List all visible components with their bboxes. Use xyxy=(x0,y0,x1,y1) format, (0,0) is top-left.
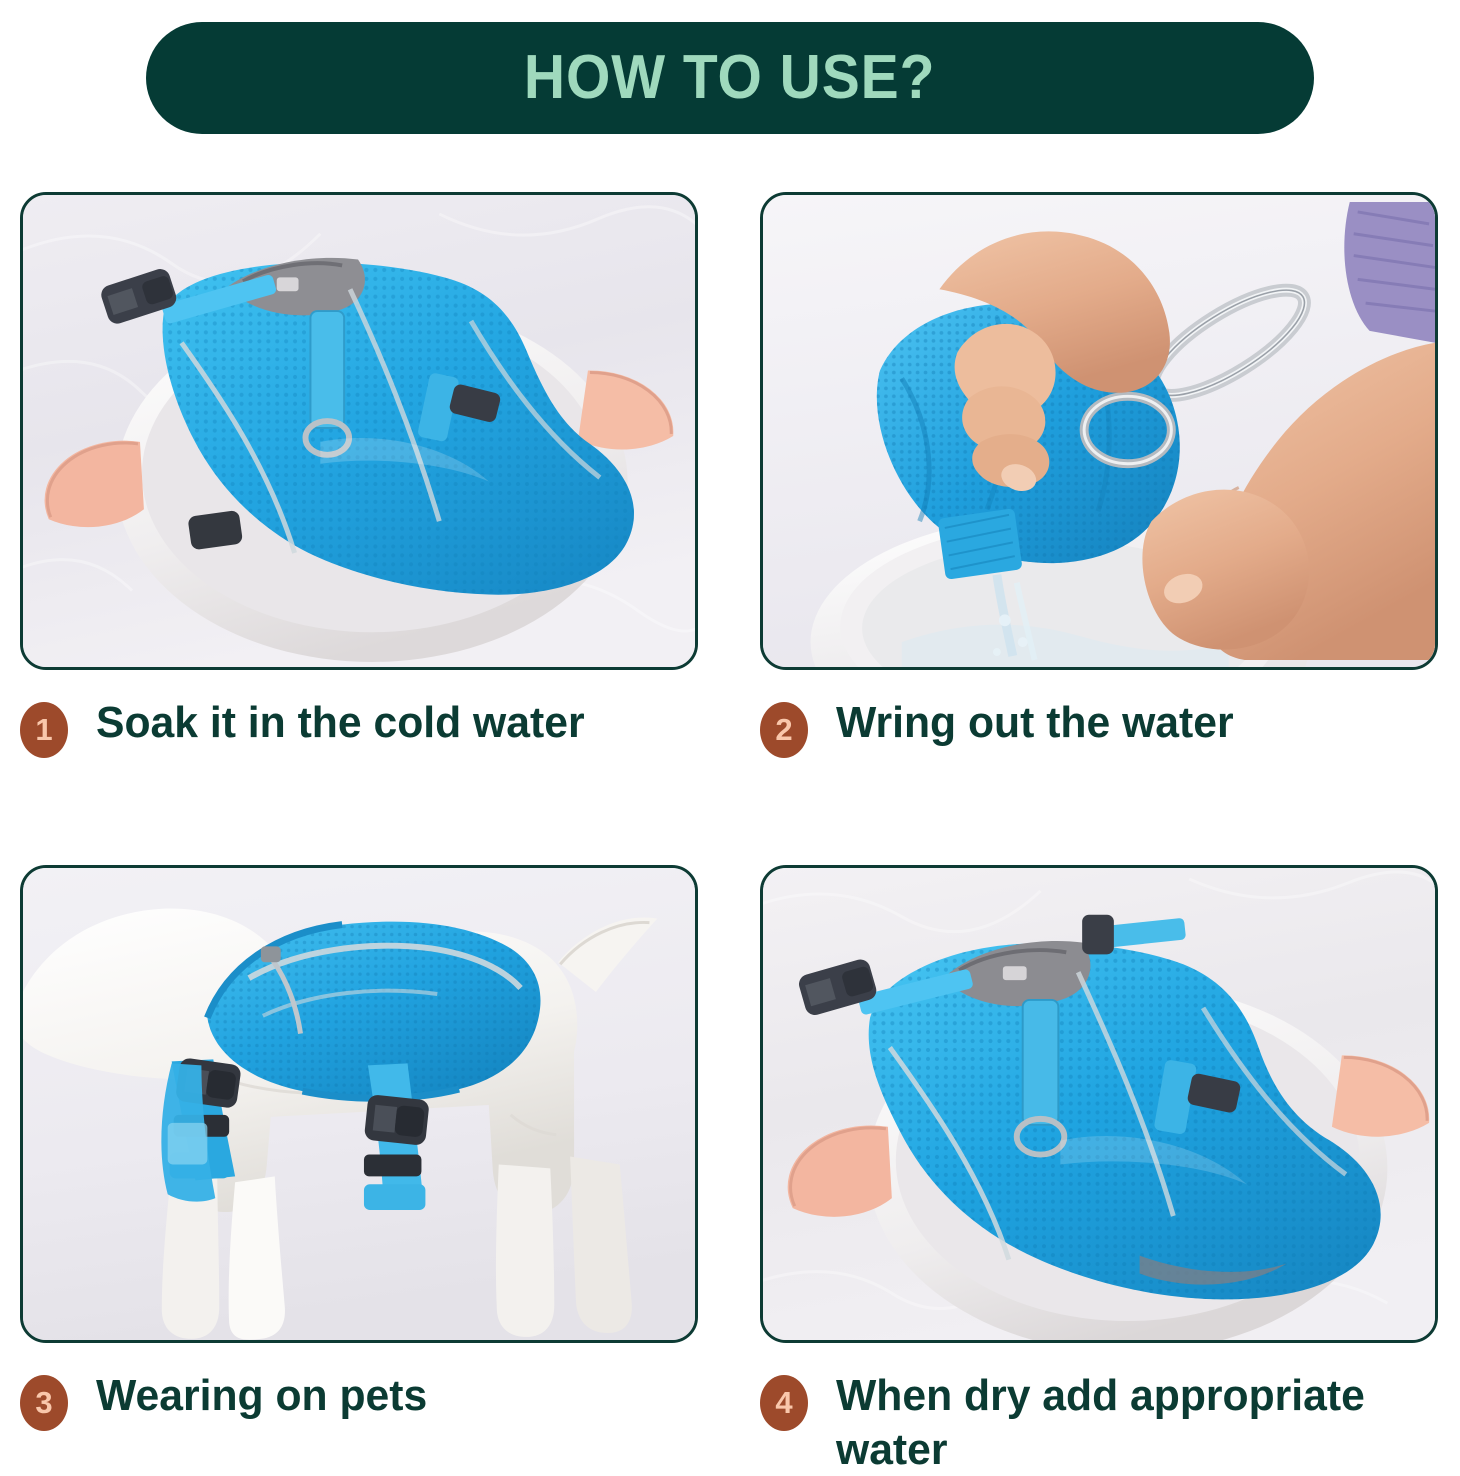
page-title: HOW TO USE? xyxy=(524,47,936,109)
step-card-4: 4 When dry add appropriate water xyxy=(760,865,1438,1476)
step-caption-row-3: 3 Wearing on pets xyxy=(20,1369,698,1431)
step-card-1: 1 Soak it in the cold water xyxy=(20,192,698,758)
hands-wringing-illustration xyxy=(763,195,1435,667)
header-banner: HOW TO USE? xyxy=(146,22,1314,134)
harness-in-basin-closeup-illustration xyxy=(763,868,1435,1340)
steps-grid: 1 Soak it in the cold water xyxy=(0,192,1460,1460)
step-number-badge-1: 1 xyxy=(20,702,68,758)
step-caption-row-1: 1 Soak it in the cold water xyxy=(20,696,698,758)
step-number-badge-4: 4 xyxy=(760,1375,808,1431)
step-photo-1 xyxy=(20,192,698,670)
step-photo-4 xyxy=(760,865,1438,1343)
step-caption-row-2: 2 Wring out the water xyxy=(760,696,1438,758)
harness-in-basin-illustration xyxy=(23,195,695,667)
step-card-2: 2 Wring out the water xyxy=(760,192,1438,758)
step-card-3: 3 Wearing on pets xyxy=(20,865,698,1431)
step-photo-3 xyxy=(20,865,698,1343)
step-caption-3: Wearing on pets xyxy=(96,1369,427,1423)
step-caption-2: Wring out the water xyxy=(836,696,1234,750)
step-number-badge-3: 3 xyxy=(20,1375,68,1431)
step-caption-1: Soak it in the cold water xyxy=(96,696,585,750)
dog-wearing-harness-illustration xyxy=(23,868,695,1340)
step-number-badge-2: 2 xyxy=(760,702,808,758)
step-photo-2 xyxy=(760,192,1438,670)
